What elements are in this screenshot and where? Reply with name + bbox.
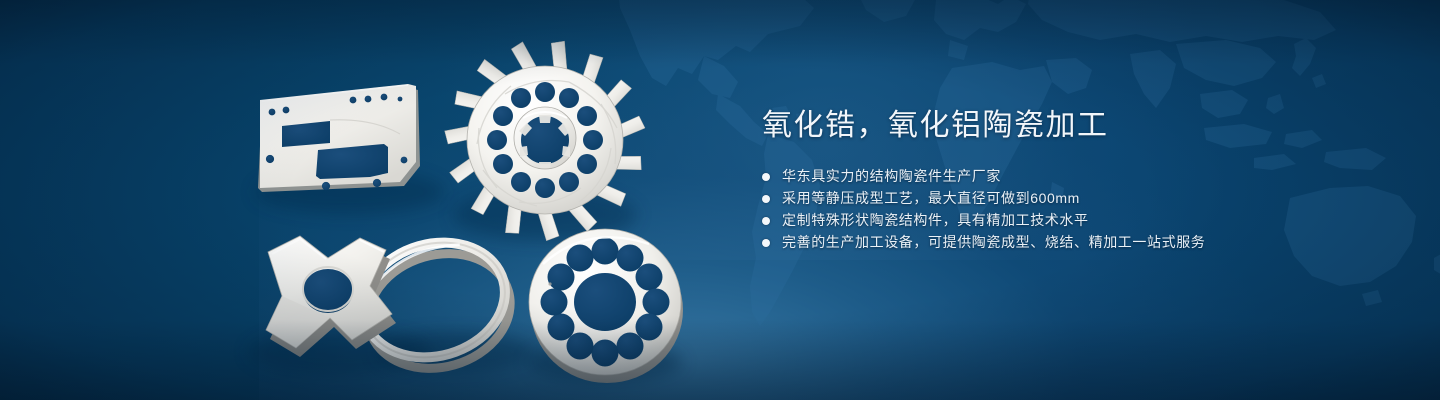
bullet-dot-icon [762, 239, 770, 247]
bullet-dot-icon [762, 173, 770, 181]
list-item-label: 定制特殊形状陶瓷结构件，具有精加工技术水平 [782, 213, 1089, 228]
list-item: 完善的生产加工设备，可提供陶瓷成型、烧结、精加工一站式服务 [762, 235, 1382, 250]
bullet-dot-icon [762, 217, 770, 225]
banner-copy: 氧化锆，氧化铝陶瓷加工 华东具实力的结构陶瓷件生产厂家 采用等静压成型工艺，最大… [762, 108, 1382, 250]
page-title: 氧化锆，氧化铝陶瓷加工 [762, 108, 1382, 143]
list-item: 采用等静压成型工艺，最大直径可做到600mm [762, 191, 1382, 206]
list-item: 定制特殊形状陶瓷结构件，具有精加工技术水平 [762, 213, 1382, 228]
feature-list: 华东具实力的结构陶瓷件生产厂家 采用等静压成型工艺，最大直径可做到600mm 定… [762, 169, 1382, 250]
hero-banner: 氧化锆，氧化铝陶瓷加工 华东具实力的结构陶瓷件生产厂家 采用等静压成型工艺，最大… [0, 0, 1440, 400]
list-item: 华东具实力的结构陶瓷件生产厂家 [762, 169, 1382, 184]
bullet-dot-icon [762, 195, 770, 203]
list-item-label: 完善的生产加工设备，可提供陶瓷成型、烧结、精加工一站式服务 [782, 235, 1205, 250]
list-item-label: 华东具实力的结构陶瓷件生产厂家 [782, 169, 1001, 184]
list-item-label: 采用等静压成型工艺，最大直径可做到600mm [782, 191, 1080, 206]
